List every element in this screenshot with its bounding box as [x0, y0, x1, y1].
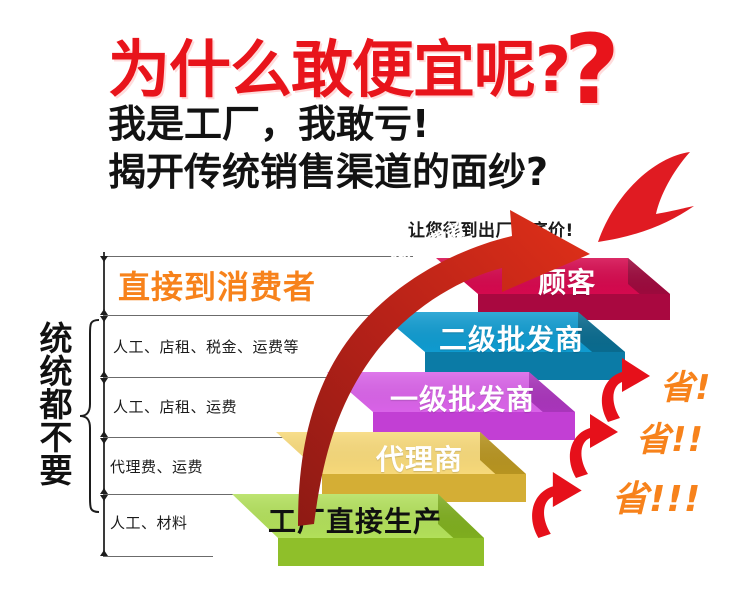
- axis-tick-0: [100, 256, 108, 262]
- orange-callout-direct-to-consumer: 直接到消费者: [118, 262, 316, 308]
- curly-brace-icon: [78, 318, 100, 514]
- axis-tick-4a: [100, 488, 108, 494]
- savings-label-3: 省!!!: [612, 470, 701, 522]
- axis-tick-3a: [100, 431, 108, 437]
- cost-label-3: 人工、材料: [110, 512, 188, 533]
- axis-vertical-line: [103, 252, 105, 556]
- savings-label-2: 省!!: [636, 412, 704, 461]
- big-question-mark-icon: ?: [564, 14, 619, 126]
- subheading-line-2: 揭开传统销售渠道的面纱?: [108, 152, 548, 192]
- subheading-line-1: 我是工厂，我敢亏!: [108, 104, 429, 144]
- axis-tick-4b: [100, 495, 108, 501]
- axis-tick-1b: [100, 316, 108, 322]
- red-arrow-pointer-icon: [586, 150, 696, 264]
- headline-text: 为什么敢便宜呢?: [108, 33, 570, 106]
- curved-up-arrow-icon-3: [528, 472, 588, 540]
- axis-tick-5: [100, 550, 108, 556]
- axis-tick-1a: [100, 309, 108, 315]
- axis-tick-2b: [100, 378, 108, 384]
- promo-banner: 为什么敢便宜呢?? 我是工厂，我敢亏! 揭开传统销售渠道的面纱? 让您得到出厂最…: [0, 0, 750, 590]
- axis-tick-2a: [100, 371, 108, 377]
- savings-label-1: 省!: [660, 360, 712, 409]
- axis-tick-3b: [100, 438, 108, 444]
